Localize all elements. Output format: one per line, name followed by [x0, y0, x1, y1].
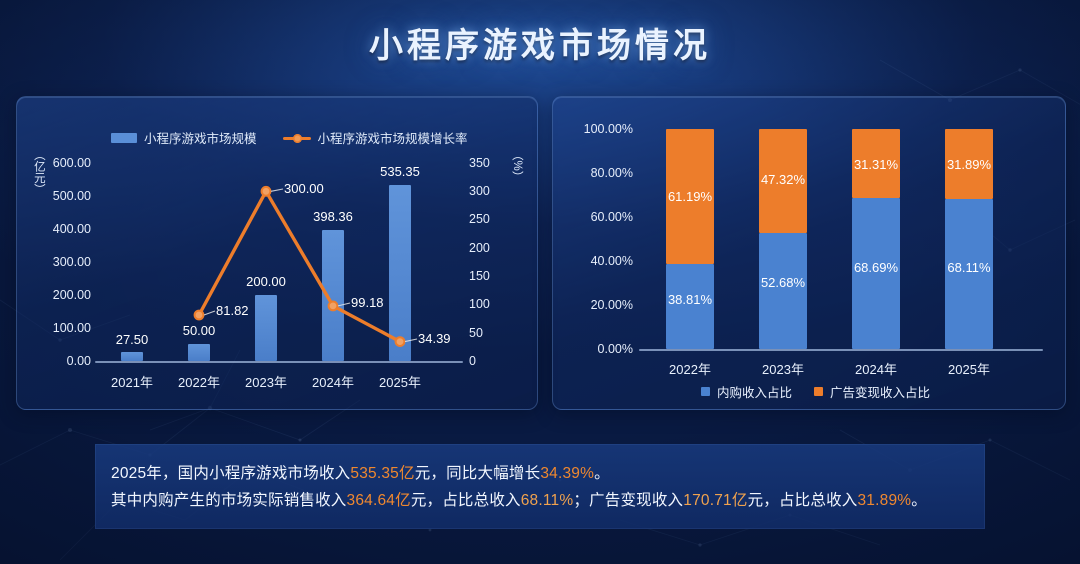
summary-l2-seg3: ；广告变现收入 [573, 492, 683, 509]
summary-l2-seg1: 其中内购产生的市场实际销售收入 [111, 492, 347, 509]
summary-l1-seg2: 元，同比大幅增长 [415, 465, 541, 482]
right-xlabel-2023: 2023年 [743, 359, 823, 378]
right-chart-ytick-60: 60.00% [561, 210, 633, 224]
line-value-2023: 300.00 [284, 181, 354, 196]
right-xlabel-2022: 2022年 [650, 359, 730, 378]
stack-inapp-label-2022: 38.81% [666, 292, 714, 307]
right-chart-ytick-20: 20.00% [561, 298, 633, 312]
stack-ad-label-2023: 47.32% [759, 172, 807, 187]
right-xlabel-2025: 2025年 [929, 359, 1009, 378]
legend-item-ad-share[interactable]: 广告变现收入占比 [814, 382, 930, 401]
legend-label-ad-share: 广告变现收入占比 [830, 382, 930, 401]
ad-swatch-icon [814, 387, 823, 396]
inapp-swatch-icon [701, 387, 710, 396]
summary-l2-highlight-inapp-revenue: 364.64亿 [347, 492, 411, 509]
summary-l2-seg5: 。 [911, 492, 927, 509]
summary-l1-seg3: 。 [594, 465, 610, 482]
line-point-2024 [329, 302, 338, 311]
summary-l2-seg2: 元，占比总收入 [411, 492, 521, 509]
right-chart-ytick-100: 100.00% [561, 122, 633, 136]
stack-ad-label-2025: 31.89% [945, 157, 993, 172]
stack-inapp-2023[interactable] [759, 233, 807, 349]
line-value-2022: 81.82 [216, 303, 276, 318]
legend-label-inapp-share: 内购收入占比 [717, 382, 792, 401]
summary-l2-highlight-inapp-share: 68.11% [521, 492, 574, 509]
right-xlabel-2024: 2024年 [836, 359, 916, 378]
stack-ad-label-2024: 31.31% [852, 157, 900, 172]
line-value-2024: 99.18 [351, 295, 411, 310]
stack-inapp-label-2024: 68.69% [852, 260, 900, 275]
stack-ad-label-2022: 61.19% [666, 189, 714, 204]
legend-item-inapp-share[interactable]: 内购收入占比 [701, 382, 792, 401]
summary-line-1: 2025年，国内小程序游戏市场收入535.35亿元，同比大幅增长34.39%。 [111, 460, 969, 487]
summary-l1-highlight-growth: 34.39% [540, 465, 594, 482]
page-title: 小程序游戏市场情况 [0, 18, 1080, 67]
summary-l2-highlight-ad-revenue: 170.71亿 [683, 492, 747, 509]
summary-l1-seg1: 2025年，国内小程序游戏市场收入 [111, 465, 350, 482]
right-chart-ytick-40: 40.00% [561, 254, 633, 268]
xlabel-2025: 2025年 [360, 372, 440, 391]
line-point-2025 [396, 337, 405, 346]
summary-l2-seg4: 元，占比总收入 [748, 492, 858, 509]
stack-inapp-label-2025: 68.11% [945, 260, 993, 275]
revenue-split-chart-legend: 内购收入占比 广告变现收入占比 [701, 382, 930, 401]
revenue-split-chart-card: 100.00% 80.00% 60.00% 40.00% 20.00% 0.00… [552, 96, 1066, 410]
summary-line-2: 其中内购产生的市场实际销售收入364.64亿元，占比总收入68.11%；广告变现… [111, 487, 969, 514]
summary-l1-highlight-revenue: 535.35亿 [350, 465, 414, 482]
summary-l2-highlight-ad-share: 31.89% [857, 492, 911, 509]
growth-rate-line [17, 97, 537, 409]
market-size-chart-card: 小程序游戏市场规模 小程序游戏市场规模增长率 （亿元） （%） 600.00 5… [16, 96, 538, 410]
right-chart-ytick-0: 0.00% [561, 342, 633, 356]
right-chart-ytick-80: 80.00% [561, 166, 633, 180]
summary-panel: 2025年，国内小程序游戏市场收入535.35亿元，同比大幅增长34.39%。 … [95, 444, 985, 529]
right-chart-x-axis-line [639, 349, 1043, 351]
line-point-2023 [262, 187, 271, 196]
stack-inapp-label-2023: 52.68% [759, 275, 807, 290]
line-value-2025: 34.39 [418, 331, 478, 346]
line-point-2022 [195, 311, 204, 320]
